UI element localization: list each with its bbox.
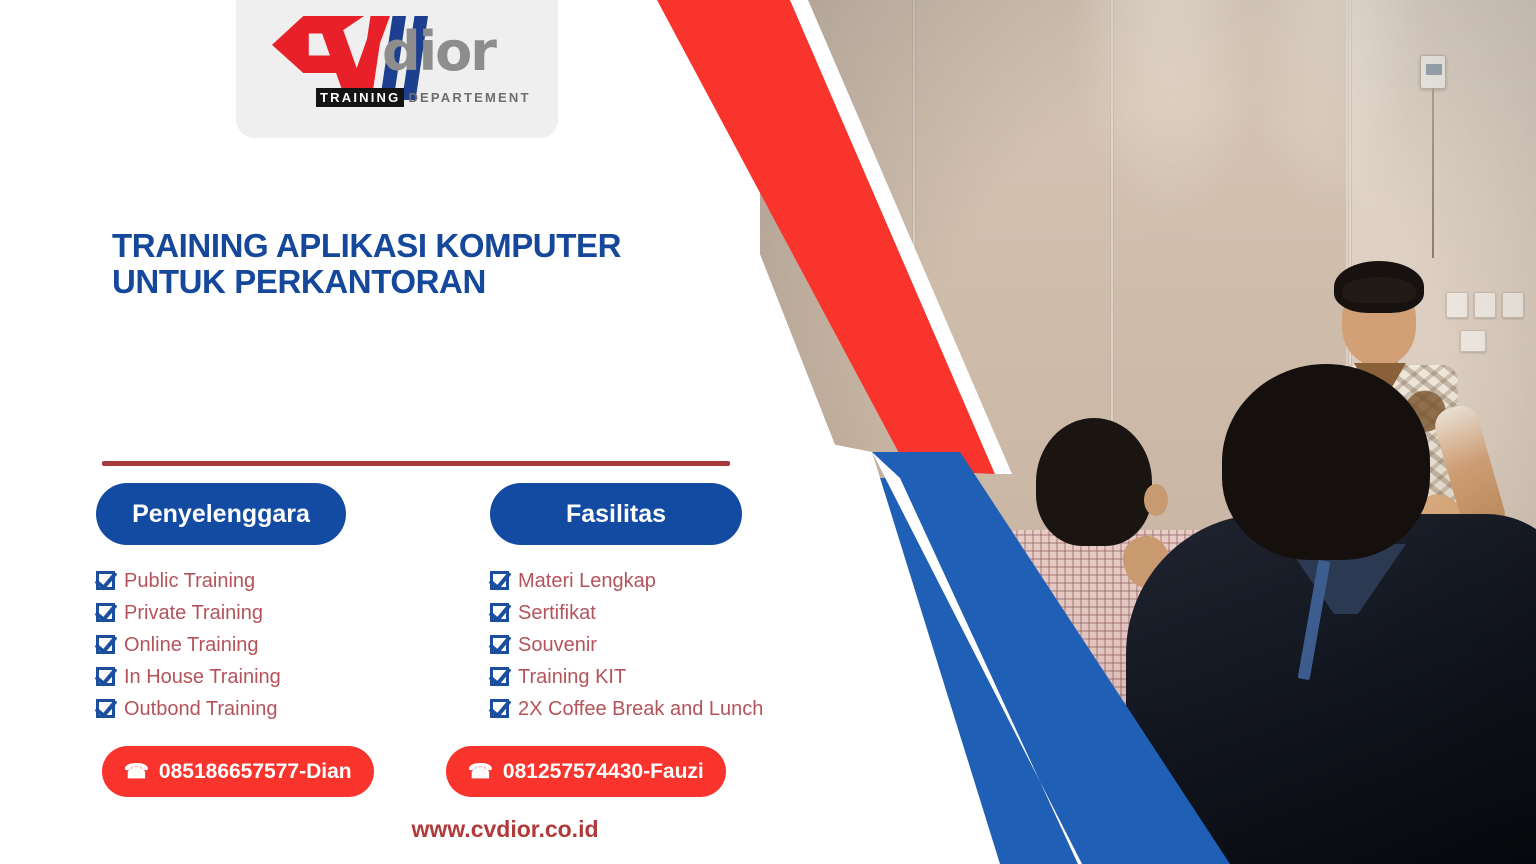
list-item-label: Online Training — [124, 635, 259, 655]
website-url[interactable]: www.cvdior.co.id — [0, 816, 1010, 843]
cvdior-logo: dior TRAINING DEPARTEMENT — [262, 12, 532, 120]
page-title-line1: TRAINING APLIKASI KOMPUTER — [112, 227, 621, 264]
page-title-line2: UNTUK PERKANTORAN — [112, 264, 732, 300]
list-item-label: Souvenir — [518, 635, 597, 655]
page-title: TRAINING APLIKASI KOMPUTER UNTUK PERKANT… — [112, 228, 732, 299]
list-item: Outbond Training — [96, 695, 356, 722]
list-item-label: In House Training — [124, 667, 281, 687]
checkbox-checked-icon — [96, 635, 115, 654]
column-title-penyelenggara: Penyelenggara — [96, 483, 346, 545]
checkbox-checked-icon — [490, 635, 509, 654]
logo-wordmark: dior — [382, 20, 495, 83]
logo-subtitle: TRAINING DEPARTEMENT — [316, 88, 531, 107]
flyer-poster: dior TRAINING DEPARTEMENT TRAINING APLIK… — [0, 0, 1536, 864]
list-penyelenggara: Public Training Private Training Online … — [96, 567, 356, 722]
column-penyelenggara: Penyelenggara Public Training Private Tr… — [96, 483, 356, 727]
training-photo — [760, 0, 1536, 864]
list-item-label: Sertifikat — [518, 603, 596, 623]
checkbox-checked-icon — [490, 603, 509, 622]
list-item-label: 2X Coffee Break and Lunch — [518, 699, 763, 719]
logo-training-badge: TRAINING — [316, 88, 404, 107]
column-fasilitas: Fasilitas Materi Lengkap Sertifikat Souv… — [490, 483, 746, 727]
logo-card: dior TRAINING DEPARTEMENT — [236, 0, 558, 138]
checkbox-checked-icon — [96, 699, 115, 718]
checkbox-checked-icon — [490, 699, 509, 718]
list-item-label: Outbond Training — [124, 699, 277, 719]
list-item: Public Training — [96, 567, 356, 594]
phone-icon: ☎ — [468, 762, 493, 782]
checkbox-checked-icon — [490, 571, 509, 590]
list-item: Materi Lengkap — [490, 567, 746, 594]
list-item: Online Training — [96, 631, 356, 658]
list-item-label: Private Training — [124, 603, 263, 623]
contact-label: 081257574430-Fauzi — [503, 760, 704, 784]
list-item: Training KIT — [490, 663, 746, 690]
phone-icon: ☎ — [124, 762, 149, 782]
list-item-label: Public Training — [124, 571, 255, 591]
list-item-label: Training KIT — [518, 667, 626, 687]
list-item: 2X Coffee Break and Lunch — [490, 695, 746, 722]
checkbox-checked-icon — [490, 667, 509, 686]
logo-departement-text: DEPARTEMENT — [408, 90, 530, 105]
checkbox-checked-icon — [96, 603, 115, 622]
contact-button-dian[interactable]: ☎ 085186657577-Dian — [102, 746, 374, 797]
list-fasilitas: Materi Lengkap Sertifikat Souvenir Train… — [490, 567, 746, 722]
photo-vignette — [760, 0, 1536, 864]
list-item: Sertifikat — [490, 599, 746, 626]
checkbox-checked-icon — [96, 667, 115, 686]
section-divider — [102, 461, 730, 466]
list-item-label: Materi Lengkap — [518, 571, 656, 591]
contact-buttons: ☎ 085186657577-Dian ☎ 081257574430-Fauzi — [96, 746, 796, 798]
list-item: Private Training — [96, 599, 356, 626]
column-title-fasilitas: Fasilitas — [490, 483, 742, 545]
contact-label: 085186657577-Dian — [159, 760, 352, 784]
contact-button-fauzi[interactable]: ☎ 081257574430-Fauzi — [446, 746, 726, 797]
list-item: In House Training — [96, 663, 356, 690]
checkbox-checked-icon — [96, 571, 115, 590]
list-item: Souvenir — [490, 631, 746, 658]
